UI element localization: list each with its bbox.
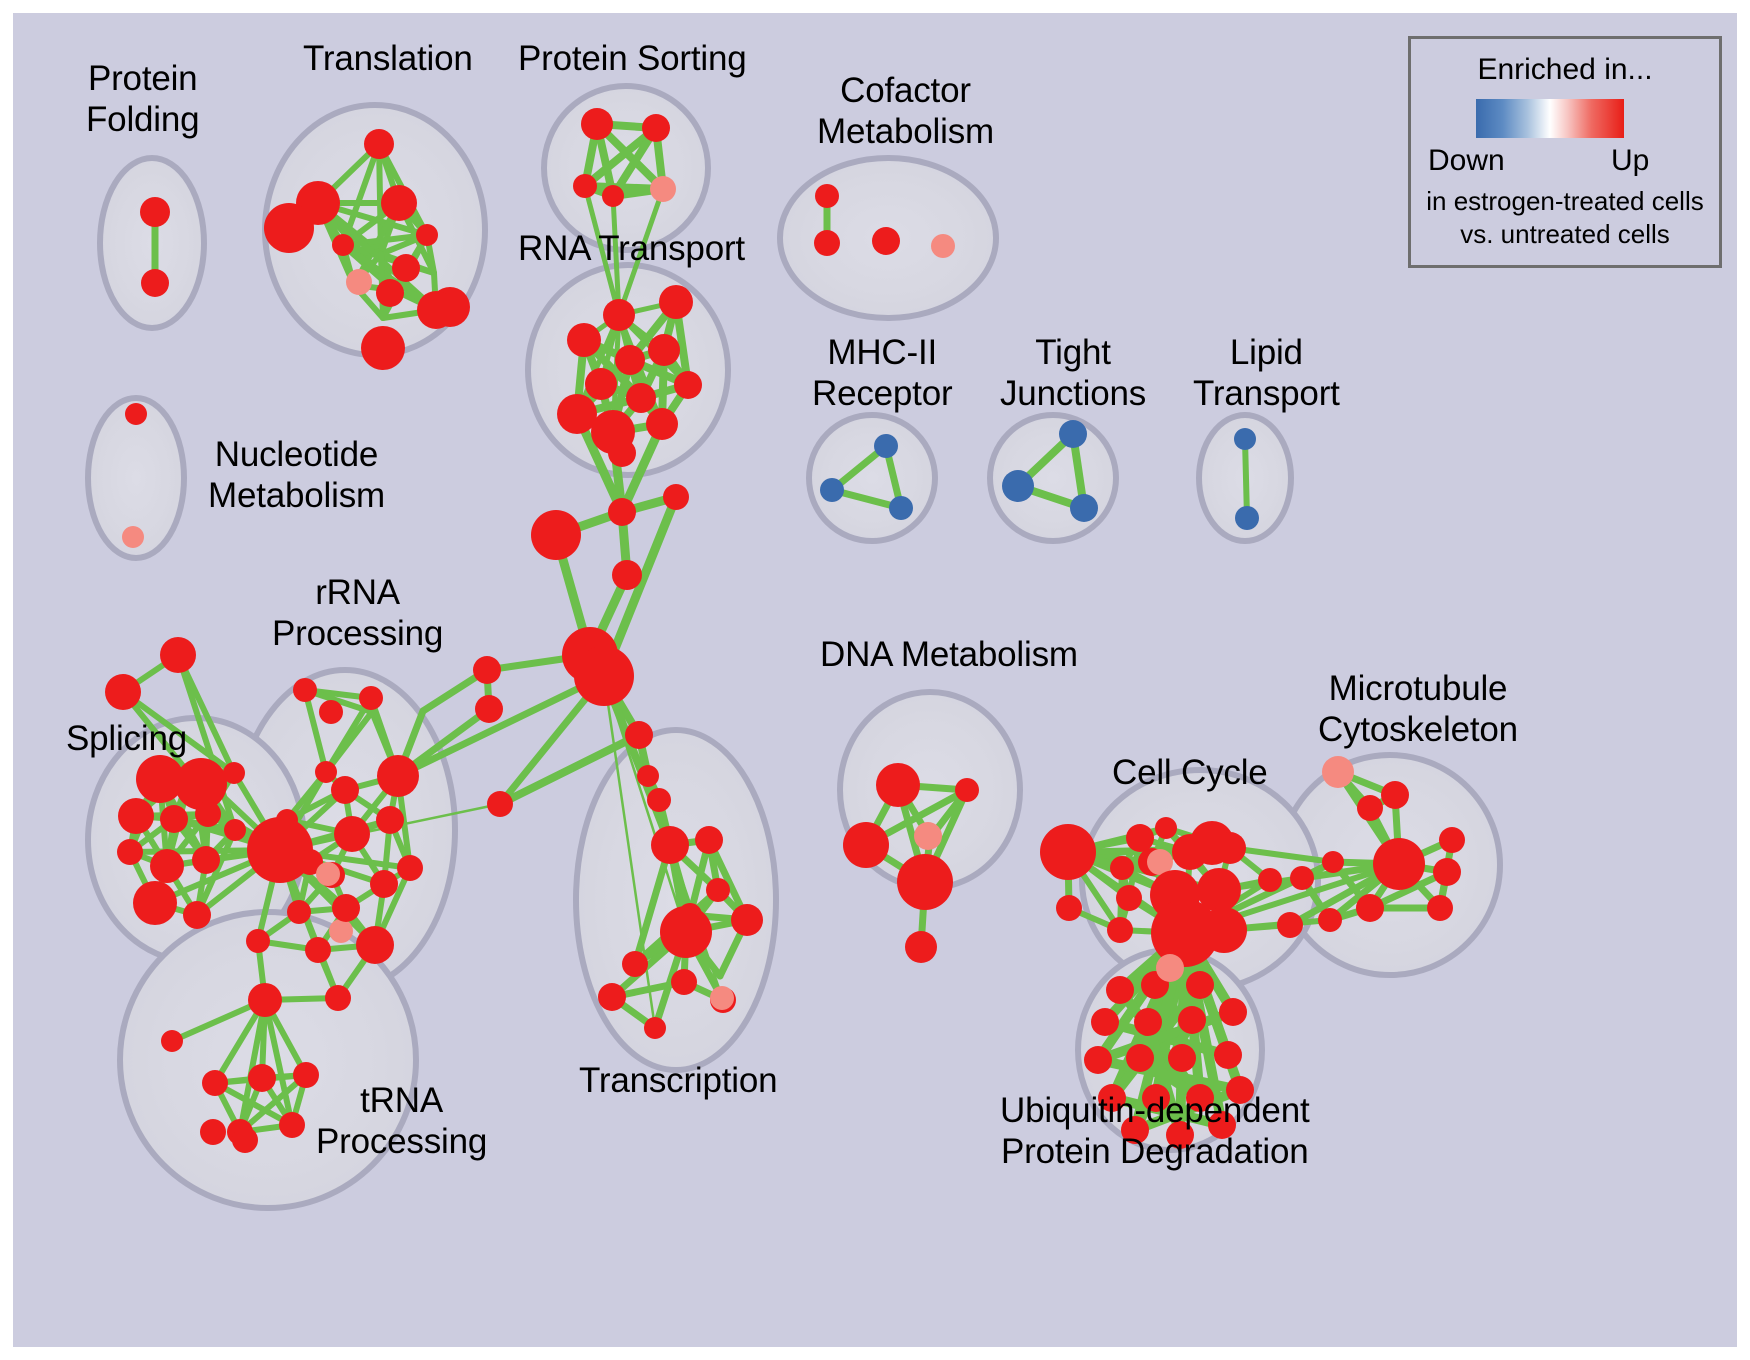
node-up [246, 929, 270, 953]
node-up [315, 761, 337, 783]
node-up [1116, 885, 1142, 911]
node-up [1356, 894, 1384, 922]
node-up [356, 926, 394, 964]
node-down [820, 478, 844, 502]
node-up [195, 801, 221, 827]
node-up [150, 849, 184, 883]
node-up [287, 900, 311, 924]
cluster-hull-mhc2 [809, 415, 935, 541]
node-up [381, 185, 417, 221]
legend-colorbar [1476, 99, 1624, 138]
node-down [1234, 428, 1256, 450]
node-up [626, 383, 656, 413]
node-up [1373, 838, 1425, 890]
cluster-label-protein-sorting: Protein Sorting [518, 38, 747, 79]
node-up [648, 334, 680, 366]
node-up [637, 765, 659, 787]
node-up [118, 798, 154, 834]
legend-title: Enriched in... [1411, 53, 1719, 87]
cluster-label-transcription: Transcription [579, 1060, 777, 1101]
node-up [671, 969, 697, 995]
node-down [1070, 494, 1098, 522]
cluster-label-rna-transport: RNA Transport [518, 228, 745, 269]
cluster-label-cell-cycle: Cell Cycle [1112, 752, 1268, 793]
node-up [1290, 866, 1314, 890]
node-up [531, 510, 581, 560]
node-up-weak [1156, 954, 1184, 982]
node-up-weak [329, 919, 353, 943]
enrichment-map-figure: Protein Folding Translation Protein Sort… [0, 0, 1750, 1360]
node-up [473, 656, 501, 684]
node-up-weak [710, 986, 734, 1010]
node-down [889, 496, 913, 520]
node-up [364, 129, 394, 159]
node-up [248, 1064, 276, 1092]
node-up [202, 1070, 228, 1096]
node-down [1235, 506, 1259, 530]
node-up [1381, 781, 1409, 809]
node-up [192, 846, 220, 874]
node-up [585, 368, 617, 400]
node-up [644, 1017, 666, 1039]
node-up [1322, 851, 1344, 873]
node-up [660, 906, 712, 958]
node-up [1186, 971, 1214, 999]
node-up [1110, 856, 1134, 880]
node-up [872, 227, 900, 255]
node-up [133, 881, 177, 925]
node-up-weak [316, 862, 340, 886]
node-up [175, 758, 227, 810]
node-up [647, 788, 671, 812]
node-up [1091, 1008, 1119, 1036]
node-up [843, 822, 889, 868]
node-up [625, 721, 653, 749]
node-up [567, 323, 601, 357]
node-up [1040, 824, 1096, 880]
node-up-weak [650, 176, 676, 202]
node-up [1427, 895, 1453, 921]
node-up [581, 108, 613, 140]
node-up [475, 695, 503, 723]
node-up [305, 937, 331, 963]
legend-panel: Enriched in... Down Up in estrogen-treat… [1408, 36, 1722, 268]
node-up [1168, 1044, 1196, 1072]
node-up [1106, 976, 1134, 1004]
node-up [376, 806, 404, 834]
node-up [608, 439, 636, 467]
node-up [1214, 832, 1246, 864]
node-up [663, 484, 689, 510]
node-up [140, 197, 170, 227]
node-up [731, 904, 763, 936]
node-up [332, 234, 354, 256]
node-up [651, 826, 689, 864]
node-up [557, 394, 597, 434]
node-up [573, 174, 597, 198]
node-up [1318, 908, 1342, 932]
node-up [1155, 817, 1177, 839]
node-up [814, 230, 840, 256]
node-up [608, 498, 636, 526]
cluster-label-trna-processing: tRNA Processing [316, 1080, 487, 1162]
cluster-label-protein-folding: Protein Folding [86, 58, 199, 140]
legend-high-label: Up [1611, 144, 1649, 178]
node-up [319, 700, 343, 724]
cluster-label-splicing: Splicing [66, 718, 187, 759]
cluster-label-rrna-processing: rRNA Processing [272, 572, 443, 654]
node-up [1178, 1006, 1206, 1034]
node-up [392, 254, 420, 282]
legend-subtitle-2: vs. untreated cells [1411, 219, 1719, 250]
node-down [1059, 420, 1087, 448]
node-up [574, 646, 634, 706]
node-up [160, 637, 196, 673]
node-up-weak [914, 822, 942, 850]
node-up [905, 931, 937, 963]
node-up [1201, 907, 1247, 953]
node-up [1126, 824, 1154, 852]
node-up [706, 878, 730, 902]
node-up [622, 951, 648, 977]
node-up [695, 826, 723, 854]
node-up [361, 326, 405, 370]
legend-subtitle-1: in estrogen-treated cells [1411, 186, 1719, 217]
cluster-label-ubiquitin-degradation: Ubiquitin-dependent Protein Degradation [1000, 1090, 1310, 1172]
node-up [248, 983, 282, 1017]
cluster-label-microtubule: Microtubule Cytoskeleton [1318, 668, 1518, 750]
legend-low-label: Down [1428, 144, 1505, 178]
node-up [279, 1112, 305, 1138]
cluster-label-nucleotide-metabolism: Nucleotide Metabolism [208, 434, 385, 516]
cluster-label-dna-metabolism: DNA Metabolism [820, 634, 1078, 675]
node-up [1126, 1044, 1154, 1072]
node-up [397, 855, 423, 881]
node-up [646, 408, 678, 440]
node-up [183, 901, 211, 929]
cluster-label-cofactor-metabolism: Cofactor Metabolism [817, 70, 994, 152]
cluster-label-lipid-transport: Lipid Transport [1193, 332, 1340, 414]
node-up [334, 816, 370, 852]
node-down [1002, 470, 1034, 502]
node-up [815, 184, 839, 208]
node-up [615, 345, 645, 375]
node-up [642, 114, 670, 142]
node-up [1258, 868, 1282, 892]
node-up [603, 299, 635, 331]
node-up [1214, 1041, 1242, 1069]
node-up [955, 778, 979, 802]
node-up [232, 1127, 258, 1153]
node-up [598, 983, 626, 1011]
node-up [160, 805, 188, 833]
node-up [264, 203, 314, 253]
node-up-weak [346, 269, 372, 295]
node-up [487, 791, 513, 817]
node-up [105, 674, 141, 710]
cluster-label-tight-junctions: Tight Junctions [1000, 332, 1146, 414]
node-up [293, 678, 317, 702]
node-up-weak [931, 234, 955, 258]
node-up [674, 371, 702, 399]
node-up-weak [1322, 756, 1354, 788]
node-up [141, 269, 169, 297]
node-up [247, 817, 313, 883]
node-up [1433, 858, 1461, 886]
node-up-weak [122, 526, 144, 548]
node-up [1439, 827, 1465, 853]
node-up [602, 185, 624, 207]
node-up [876, 763, 920, 807]
node-up [612, 560, 642, 590]
node-up [1107, 917, 1133, 943]
node-up [376, 279, 404, 307]
node-up [359, 686, 383, 710]
node-up [200, 1119, 226, 1145]
node-up [1134, 1008, 1162, 1036]
node-up [325, 985, 351, 1011]
node-up [1357, 795, 1383, 821]
cluster-label-mhc-ii-receptor: MHC-II Receptor [812, 332, 952, 414]
node-up [1219, 998, 1247, 1026]
node-up [331, 776, 359, 804]
node-up [1084, 1046, 1112, 1074]
node-up [117, 839, 143, 865]
node-down [874, 434, 898, 458]
node-up [370, 870, 398, 898]
cluster-label-translation: Translation [303, 38, 473, 79]
node-up [417, 291, 455, 329]
node-up [332, 894, 360, 922]
node-up [416, 224, 438, 246]
node-up [125, 403, 147, 425]
node-up [1277, 912, 1303, 938]
node-up [897, 854, 953, 910]
node-up [224, 819, 246, 841]
node-up [161, 1030, 183, 1052]
node-up [1056, 895, 1082, 921]
node-up [659, 285, 693, 319]
node-up [377, 755, 419, 797]
